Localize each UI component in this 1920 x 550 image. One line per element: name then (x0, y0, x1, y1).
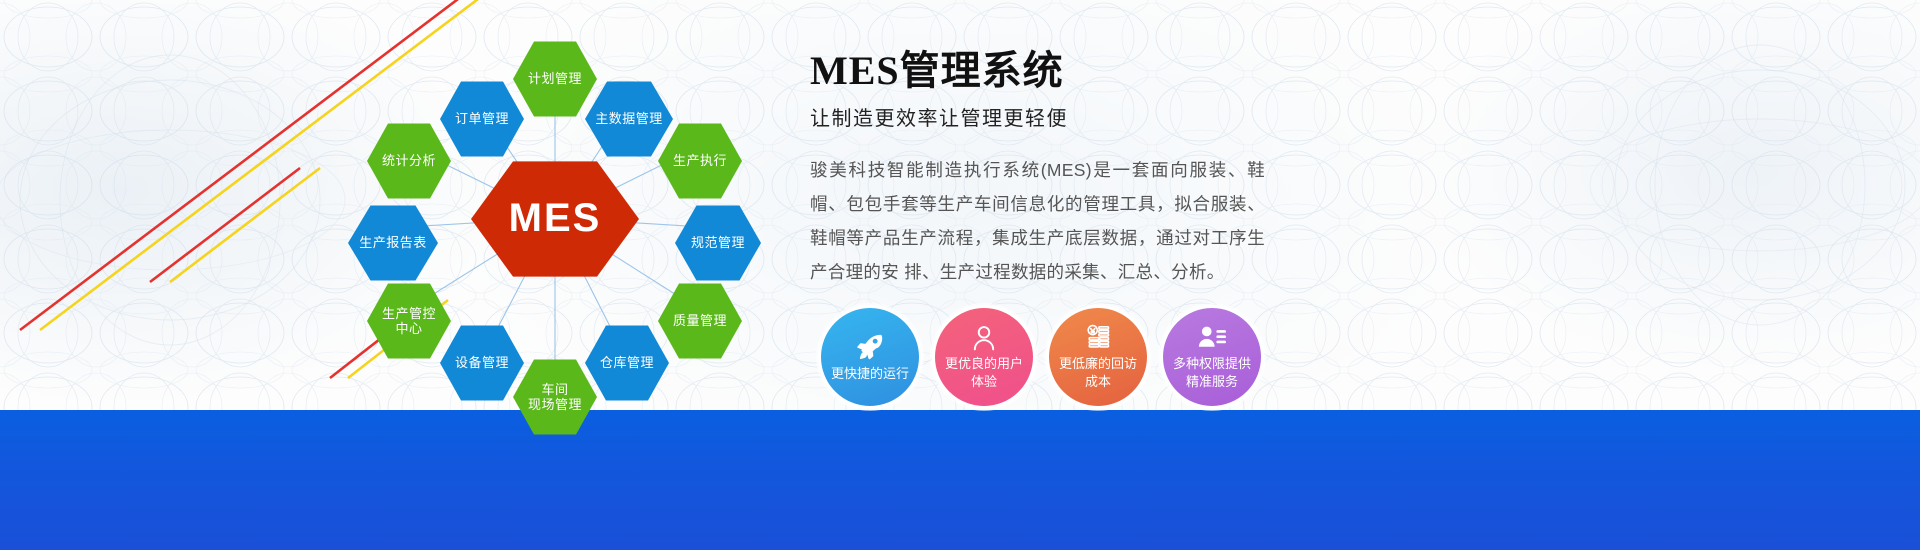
hex-node-2-label: 主数据管理 (595, 111, 663, 126)
background-bottom-band (0, 410, 1920, 550)
mes-hexagon-diagram: 计划管理 订单管理 主数据管理 统计分析 生产执行 生产报告表 规范管理 生产管… (330, 18, 780, 418)
coins-icon (1084, 324, 1112, 352)
hex-node-10-label: 仓库管理 (600, 355, 654, 370)
badge-lower-revisit-cost[interactable]: 更低廉的回访 成本 (1046, 305, 1150, 409)
badge-multi-permission-service[interactable]: 多种权限提供 精准服务 (1160, 305, 1264, 409)
hex-node-0-label: 计划管理 (528, 71, 582, 86)
hex-node-8-label: 质量管理 (673, 313, 727, 328)
hex-node-11-label: 车间 现场管理 (528, 382, 582, 413)
page-title: MES管理系统 (810, 48, 1370, 94)
text-column: MES管理系统 让制造更效率让管理更轻便 骏美科技智能制造执行系统(MES)是一… (810, 48, 1370, 290)
hex-node-4-label: 生产执行 (673, 153, 727, 168)
badge-0-label: 更快捷的运行 (823, 365, 917, 383)
banner-stage: 计划管理 订单管理 主数据管理 统计分析 生产执行 生产报告表 规范管理 生产管… (0, 0, 1920, 550)
core-label: MES (509, 195, 602, 242)
feature-badges: 更快捷的运行 更优良的用户 体验 (818, 305, 1264, 409)
user-icon (970, 324, 998, 352)
hex-node-6-label: 规范管理 (691, 235, 745, 250)
user-list-icon (1197, 324, 1227, 352)
badge-2-label: 更低廉的回访 成本 (1051, 355, 1145, 390)
hex-node-1-label: 订单管理 (455, 111, 509, 126)
hex-node-9-label: 设备管理 (455, 355, 509, 370)
hex-node-5-label: 生产报告表 (359, 235, 427, 250)
badge-3-label: 多种权限提供 精准服务 (1165, 355, 1259, 390)
badge-1-label: 更优良的用户 体验 (937, 355, 1031, 390)
badge-faster-operation[interactable]: 更快捷的运行 (818, 305, 922, 409)
badge-better-user-experience[interactable]: 更优良的用户 体验 (932, 305, 1036, 409)
page-subtitle: 让制造更效率让管理更轻便 (810, 102, 1370, 131)
hex-node-3-label: 统计分析 (382, 153, 436, 168)
description-paragraph: 骏美科技智能制造执行系统(MES)是一套面向服装、鞋帽、包包手套等生产车间信息化… (810, 153, 1265, 290)
rocket-icon (855, 332, 885, 362)
hex-node-7-label: 生产管控 中心 (382, 306, 436, 337)
